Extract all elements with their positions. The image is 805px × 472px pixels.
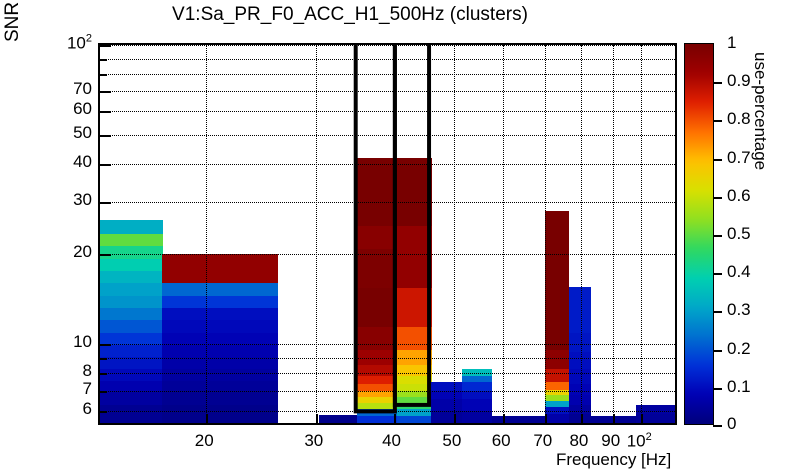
colorbar-tick xyxy=(713,311,722,313)
colorbar-label: 0 xyxy=(727,414,736,434)
x-axis-label: 102 xyxy=(627,431,652,452)
y-axis-label: 60 xyxy=(46,99,92,119)
y-axis-label: 102 xyxy=(46,33,92,54)
plot-canvas: V1:Sa_PR_F0_ACC_H1_500Hz (clusters) SNR … xyxy=(0,0,805,472)
plot-title: V1:Sa_PR_F0_ACC_H1_500Hz (clusters) xyxy=(0,4,700,26)
x-tick xyxy=(454,414,456,423)
x-tick xyxy=(503,414,505,423)
colorbar-tick xyxy=(713,235,722,237)
y-tick xyxy=(100,391,107,393)
x-axis-label: 30 xyxy=(304,431,323,451)
x-axis-label: 70 xyxy=(533,431,552,451)
y-tick xyxy=(100,358,107,360)
colorbar-tick xyxy=(713,159,722,161)
colorbar-tick xyxy=(713,82,722,84)
x-tick xyxy=(545,414,547,423)
plot-frame xyxy=(98,43,677,425)
colorbar-label: 0.9 xyxy=(727,71,751,91)
x-tick xyxy=(581,414,583,423)
colorbar-label: 1 xyxy=(727,33,736,53)
y-tick xyxy=(100,344,111,346)
colorbar-tick xyxy=(713,197,722,199)
y-axis-label: 70 xyxy=(46,79,92,99)
colorbar-label: 0.3 xyxy=(727,300,751,320)
y-tick xyxy=(100,411,107,413)
colorbar-label: 0.2 xyxy=(727,339,751,359)
y-axis-label: 6 xyxy=(46,399,92,419)
y-axis-label: 20 xyxy=(46,242,92,262)
y-tick xyxy=(100,135,111,137)
y-tick xyxy=(100,254,111,256)
colorbar xyxy=(684,43,714,425)
y-tick xyxy=(100,111,111,113)
x-axis-label: 90 xyxy=(601,431,620,451)
x-axis-label: 80 xyxy=(569,431,588,451)
colorbar-title: use-percentage xyxy=(750,52,770,170)
x-tick xyxy=(316,414,318,423)
x-axis-title: Frequency [Hz] xyxy=(556,450,671,470)
y-axis-label: 7 xyxy=(46,379,92,399)
y-axis-label: 40 xyxy=(46,152,92,172)
x-axis-label: 20 xyxy=(195,431,214,451)
x-tick xyxy=(613,414,615,423)
colorbar-tick xyxy=(713,120,722,122)
x-axis-label: 60 xyxy=(492,431,511,451)
x-axis-label: 50 xyxy=(442,431,461,451)
x-axis-label: 40 xyxy=(382,431,401,451)
y-tick xyxy=(100,74,107,76)
cluster-b xyxy=(395,45,429,405)
cluster-outlines xyxy=(100,45,675,423)
y-axis-label: 50 xyxy=(46,123,92,143)
colorbar-label: 0.6 xyxy=(727,186,751,206)
colorbar-label: 0.5 xyxy=(727,224,751,244)
y-tick xyxy=(100,59,107,61)
colorbar-tick xyxy=(713,388,722,390)
colorbar-tick xyxy=(713,425,722,427)
colorbar-label: 0.4 xyxy=(727,262,751,282)
y-tick xyxy=(100,45,111,47)
y-tick xyxy=(100,373,107,375)
x-tick xyxy=(394,414,396,423)
y-tick xyxy=(100,91,111,93)
colorbar-gradient xyxy=(685,44,713,424)
colorbar-label: 0.1 xyxy=(727,377,751,397)
y-tick xyxy=(100,202,111,204)
y-axis-title: SNR xyxy=(2,2,24,42)
y-axis-label: 30 xyxy=(46,190,92,210)
y-tick xyxy=(100,164,111,166)
colorbar-tick xyxy=(713,350,722,352)
cluster-a xyxy=(356,45,395,411)
y-axis-label: 10 xyxy=(46,332,92,352)
x-tick xyxy=(641,414,643,423)
colorbar-label: 0.7 xyxy=(727,148,751,168)
x-tick xyxy=(206,414,208,423)
colorbar-label: 0.8 xyxy=(727,109,751,129)
colorbar-tick xyxy=(713,273,722,275)
